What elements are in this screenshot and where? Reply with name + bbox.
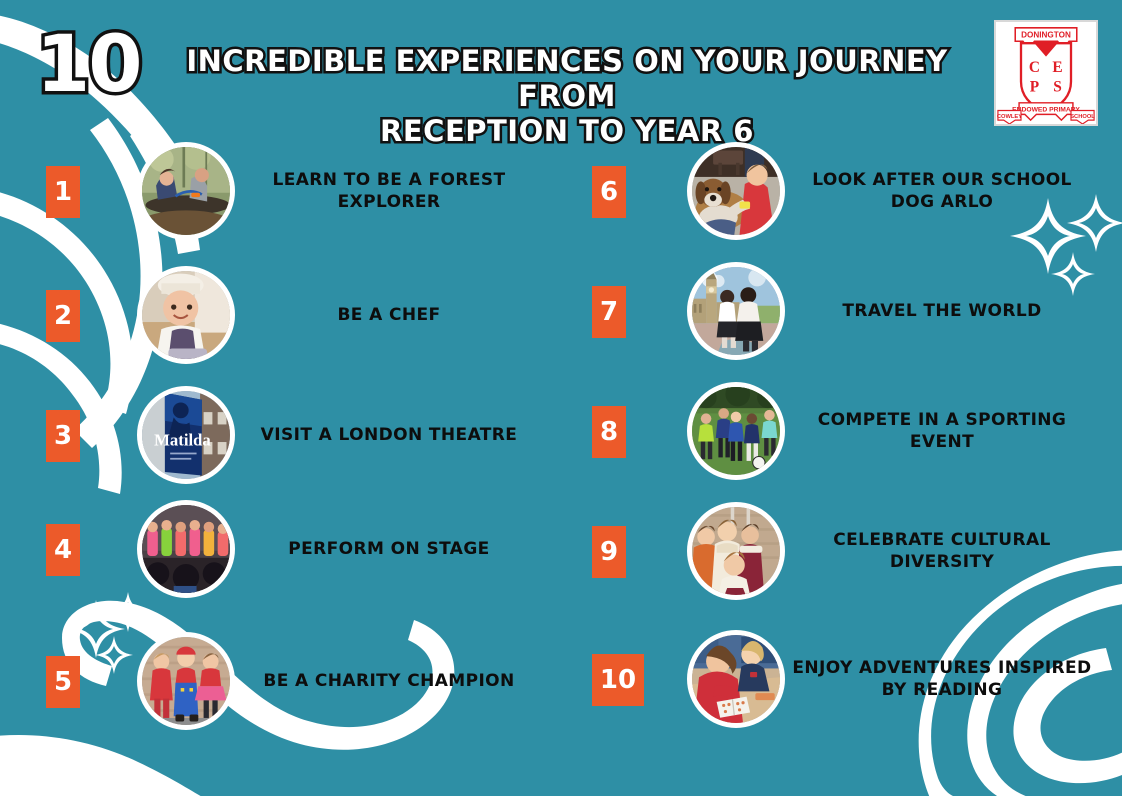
item-number-badge: 8: [592, 406, 626, 458]
item-photo: [687, 502, 785, 600]
item-photo: [137, 632, 235, 730]
item-number-badge: 3: [46, 410, 80, 462]
item-photo: [687, 142, 785, 240]
crest-letter-s: S: [1053, 78, 1062, 95]
crest-letter-c: C: [1029, 59, 1040, 76]
item-caption: COMPETE IN A SPORTING EVENT: [792, 382, 1092, 480]
school-logo: DONINGTON C E P S ENDOWED PRIMARY COWLEY…: [994, 20, 1098, 126]
item-number-badge: 2: [46, 290, 80, 342]
sporting-event-photo: [692, 387, 780, 475]
charity-champion-photo: [142, 637, 230, 725]
crest-right-ribbon-text: SCHOOL: [1070, 114, 1095, 120]
item-caption: LOOK AFTER OUR SCHOOL DOG ARLO: [792, 142, 1092, 240]
item-number-badge: 4: [46, 524, 80, 576]
item-number-badge: 6: [592, 166, 626, 218]
crest-top-banner-text: DONINGTON: [1021, 30, 1071, 39]
item-number-badge: 9: [592, 526, 626, 578]
sparkle-icon-bl-small-outline: [95, 636, 133, 674]
item-number-badge: 5: [46, 656, 80, 708]
item-caption: BE A CHEF: [242, 266, 536, 364]
reading-adventures-photo: [692, 635, 780, 723]
item-photo: [137, 500, 235, 598]
page-big-number: 10: [36, 26, 141, 104]
item-caption: ENJOY ADVENTURES INSPIRED BY READING: [792, 630, 1092, 728]
page-title-line-1: INCREDIBLE EXPERIENCES ON YOUR JOURNEY F…: [186, 44, 947, 113]
crest-left-ribbon-text: COWLEY: [997, 114, 1022, 120]
cultural-diversity-photo: [692, 507, 780, 595]
item-caption: VISIT A LONDON THEATRE: [242, 386, 536, 484]
crest-bottom-banner-text: ENDOWED PRIMARY: [1012, 106, 1080, 113]
item-number-badge: 1: [46, 166, 80, 218]
bottom-left-swirl-tail-brush: [0, 735, 204, 796]
poster-header: 10 INCREDIBLE EXPERIENCES ON YOUR JOURNE…: [0, 0, 1122, 132]
item-photo: [137, 142, 235, 240]
forest-explorer-photo: [142, 147, 230, 235]
item-photo: [687, 262, 785, 360]
item-caption: CELEBRATE CULTURAL DIVERSITY: [792, 502, 1092, 600]
item-number-badge: 10: [592, 654, 644, 706]
item-photo: [687, 630, 785, 728]
item-number-badge: 7: [592, 286, 626, 338]
poster-canvas: 10 INCREDIBLE EXPERIENCES ON YOUR JOURNE…: [0, 0, 1122, 796]
item-caption: LEARN TO BE A FOREST EXPLORER: [242, 142, 536, 240]
travel-the-world-photo: [692, 267, 780, 355]
sparkle-icon-bl-large-outline: [67, 600, 125, 658]
item-caption: BE A CHARITY CHAMPION: [242, 632, 536, 730]
crest-letter-p: P: [1030, 78, 1039, 95]
page-title: INCREDIBLE EXPERIENCES ON YOUR JOURNEY F…: [152, 44, 982, 149]
item-photo: [137, 266, 235, 364]
crest-letter-e: E: [1052, 59, 1062, 76]
perform-on-stage-photo: [142, 505, 230, 593]
school-dog-photo: [692, 147, 780, 235]
item-photo: [687, 382, 785, 480]
chef-photo: [142, 271, 230, 359]
left-lower-arc-brush: [0, 320, 122, 494]
item-caption: PERFORM ON STAGE: [242, 500, 536, 598]
item-caption: TRAVEL THE WORLD: [792, 262, 1092, 360]
item-photo: Matilda: [137, 386, 235, 484]
svg-text:Matilda: Matilda: [154, 431, 211, 450]
london-theatre-photo: Matilda: [142, 391, 230, 479]
school-crest-icon: DONINGTON C E P S ENDOWED PRIMARY COWLEY…: [996, 22, 1096, 124]
sparkle-icon-bl-medium-outline: [108, 592, 148, 632]
